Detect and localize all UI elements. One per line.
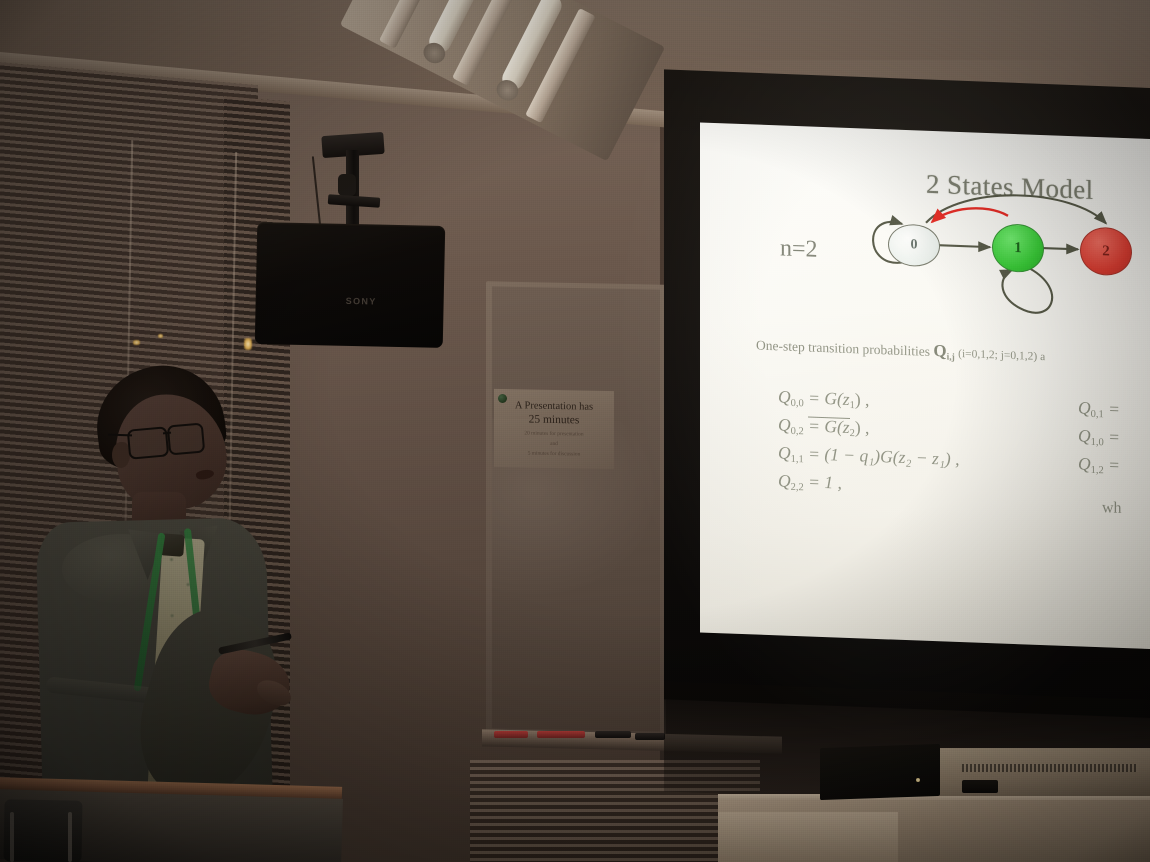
state-transition-diagram: 0 1 2: [872, 187, 1134, 322]
sony-logo: SONY: [346, 296, 377, 307]
panel-vents: [962, 764, 1138, 772]
sign-line-2: 25 minutes: [494, 412, 614, 429]
caption-symbol: Q: [933, 341, 946, 360]
eq-lhs: Q: [1078, 397, 1091, 417]
equation-row: Q0,1 =: [1078, 394, 1120, 423]
mount-arm: [328, 194, 381, 208]
equations-left-column: Q0,0 = G(z1) , Q0,2 = G(z2) , Q1,1 = (1 …: [778, 383, 960, 501]
sign-sub-1: 20 minutes for presentation: [494, 429, 614, 439]
equation-row: Q1,2 =: [1078, 450, 1120, 479]
eq-lhs: Q: [778, 386, 791, 406]
eq-rhs: = G(z: [808, 416, 849, 436]
equations-right-column: Q0,1 = Q1,0 = Q1,2 =: [1078, 394, 1120, 479]
power-led-icon: [916, 778, 920, 782]
eq-rhs: = 1 ,: [808, 471, 842, 492]
eq-rhs: =: [1108, 426, 1120, 446]
edge-0-to-1: [938, 245, 990, 247]
chair-leg: [68, 812, 72, 862]
chair-leg: [10, 812, 14, 862]
podium: [718, 812, 898, 862]
projection-screen-surface: 2 States Model n=2: [700, 122, 1150, 649]
eq-lhs: Q: [1078, 453, 1091, 473]
eq-rhs: =: [1108, 398, 1120, 418]
window-light-leak: [133, 340, 140, 345]
marker-red[interactable]: [494, 731, 528, 738]
edge-1-to-2: [1042, 248, 1078, 249]
eq-lhs: Q: [778, 442, 791, 462]
eq-lhs-sub: 1,2: [1091, 465, 1104, 476]
eq-lhs-sub: 0,0: [791, 398, 804, 409]
eq-rhs: = (1 − q₁)G(z₂ − z₁) ,: [808, 443, 959, 469]
panel-slot[interactable]: [962, 780, 998, 793]
sony-projector: SONY: [255, 222, 446, 348]
eq-lhs: Q: [778, 414, 791, 434]
presentation-time-sign: A Presentation has 25 minutes 20 minutes…: [494, 389, 614, 469]
photo-scene: SONY A Presentation has 25 minutes 20 mi…: [0, 0, 1150, 862]
marker-red[interactable]: [537, 731, 585, 738]
projector-ceiling-mount: [322, 134, 384, 234]
glasses-icon: [167, 422, 205, 455]
window-light-leak: [158, 334, 163, 338]
eq-rhs: = G(z: [808, 387, 849, 409]
sign-sub-2: and: [494, 439, 614, 449]
eq-rhs: =: [1108, 454, 1120, 474]
slide-where-text: wh: [1102, 499, 1122, 518]
caption-range: (i=0,1,2; j=0,1,2) a: [958, 348, 1045, 363]
eq-tail: ) ,: [855, 417, 870, 438]
whiteboard-surface[interactable]: [492, 286, 660, 731]
eq-lhs-sub: 0,1: [1091, 409, 1104, 420]
marker-black[interactable]: [595, 731, 631, 738]
laptop[interactable]: [820, 744, 940, 800]
eq-tail: ) ,: [855, 389, 870, 410]
window-light-leak: [244, 338, 252, 350]
eq-lhs: Q: [1078, 425, 1091, 445]
slide-caption: One-step transition probabilities Qi,j (…: [756, 335, 1045, 367]
eq-lhs-sub: 1,0: [1091, 437, 1104, 448]
caption-lead: One-step transition probabilities: [756, 338, 930, 359]
caption-symbol-sub: i,j: [947, 353, 955, 363]
eq-lhs-sub: 0,2: [791, 426, 804, 437]
marker-black[interactable]: [635, 733, 665, 740]
eq-lhs: Q: [778, 470, 791, 490]
magnet-icon: [498, 394, 507, 403]
eq-lhs-sub: 1,1: [791, 454, 804, 465]
sign-sub-3: 5 minutes for discussion: [494, 449, 614, 459]
edge-1-to-1: [1002, 268, 1052, 314]
eq-lhs-sub: 2,2: [791, 482, 804, 493]
equation-row: Q1,0 =: [1078, 422, 1120, 451]
mount-knuckle: [338, 174, 356, 196]
slide-n-label: n=2: [780, 235, 818, 263]
